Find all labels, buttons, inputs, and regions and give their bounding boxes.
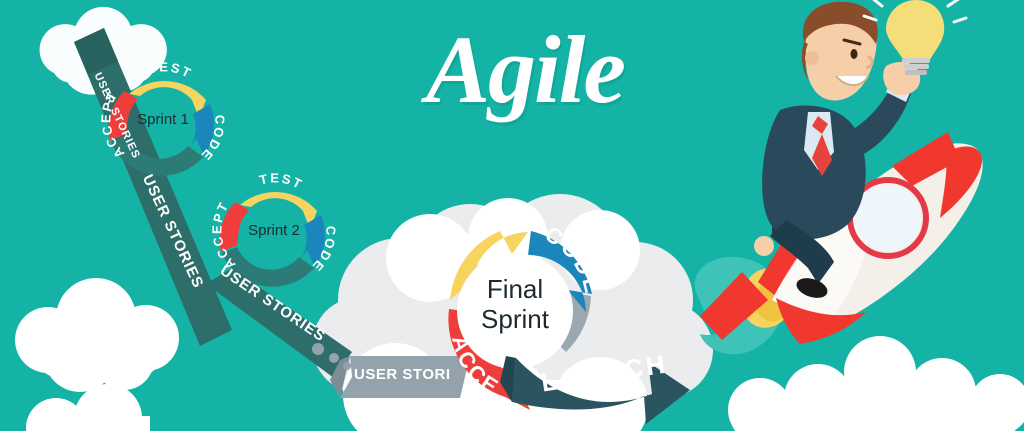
banner-artwork: TEST CODE ACCEPT TEST	[0, 0, 1024, 431]
agile-banner: TEST CODE ACCEPT TEST	[0, 0, 1024, 431]
eye	[851, 49, 858, 59]
hand-lower	[754, 236, 774, 256]
final-sprint-label: Final Sprint	[455, 274, 575, 334]
final-sprint-label-line1: Final	[487, 274, 543, 304]
sprint-2-label: Sprint 2	[228, 222, 320, 239]
final-sprint-label-line2: Sprint	[481, 304, 549, 334]
sprint-1-label: Sprint 1	[118, 111, 208, 128]
rocket-window	[855, 185, 921, 251]
